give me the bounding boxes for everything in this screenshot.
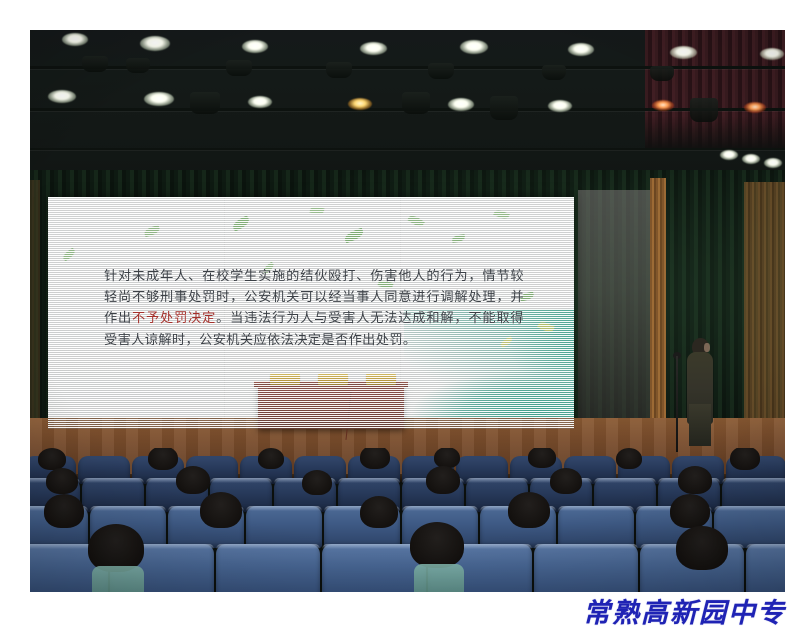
audience-head [360,448,390,469]
light-fixture [326,62,352,78]
stage-lamp [144,92,174,106]
lighting-truss-bar-3 [30,148,785,150]
auditorium-photograph: 针对未成年人、在校学生实施的结伙殴打、伤害他人的行为，情节较轻尚不够刑事处罚时，… [30,30,785,592]
wood-wall-strip [30,180,40,430]
seat-rim [246,506,322,511]
seat-rim [90,506,166,511]
audience-head [616,448,642,469]
stage-lamp-red [652,100,674,111]
light-fixture [690,98,718,122]
audience-head [670,494,710,528]
stage-lamp [670,46,697,59]
seat-rim [534,544,638,549]
led-display-wall: 针对未成年人、在校学生实施的结伙殴打、伤害他人的行为，情节较轻尚不够刑事处罚时，… [48,197,574,429]
stage-lamp [448,98,474,111]
stage-lamp [140,36,170,51]
speaker-face [704,343,710,352]
seat-rim [722,478,785,483]
seat-rim [746,544,785,549]
seat [558,506,634,548]
light-fixture [650,66,674,81]
seat [746,544,785,592]
seat-rim [402,506,478,511]
stage-lamp [248,96,272,108]
speaker-legs [689,404,711,446]
seat-rim [216,544,320,549]
seat-rim [558,506,634,511]
stage-lamp [242,40,268,53]
stage-lamp [720,150,738,160]
maroon-valance-curtain [645,30,785,150]
stage-lamp-red [744,102,766,113]
grey-wall-panel [578,190,650,426]
audience-head [44,494,84,528]
light-fixture [402,92,430,114]
seat-rim [466,478,528,483]
audience-head [678,466,712,494]
light-fixture [82,56,108,72]
audience-head [148,448,178,470]
audience-head [302,470,332,495]
audience-seating-area [30,448,785,592]
audience-head [360,496,398,528]
seat-rim [594,478,656,483]
watermark-text: 常熟高新园中专 [583,591,786,630]
stage-lamp [764,158,782,168]
seat-rim [338,478,400,483]
audience-head [38,448,66,470]
seat-rim [714,506,785,511]
light-fixture [542,65,566,80]
audience-head [46,468,78,494]
audience-torso [414,564,464,592]
wood-wall-strip [650,178,666,440]
audience-head [426,466,460,494]
light-fixture [226,60,252,76]
microphone-stand [676,356,678,452]
light-fixture [126,58,150,73]
screenshot-page: 针对未成年人、在校学生实施的结伙殴打、伤害他人的行为，情节较轻尚不够刑事处罚时，… [0,0,812,632]
stage-lamp [760,48,784,60]
audience-head [508,492,550,528]
stage-lamp [742,154,760,164]
stage-lamp [548,100,572,112]
seat [246,506,322,548]
audience-head [528,448,556,468]
stage-lamp [568,43,594,56]
stage-lamp [48,90,76,103]
stage-lamp [62,33,88,46]
stage-lamp [460,40,488,54]
audience-head [550,468,582,494]
seat [534,544,638,592]
audience-head [88,524,144,572]
audience-head [176,466,210,494]
audience-head [676,526,728,570]
seat [216,544,320,592]
audience-head [410,522,464,568]
seat-rim [82,478,144,483]
slide-body-text: 针对未成年人、在校学生实施的结伙殴打、伤害他人的行为，情节较轻尚不够刑事处罚时，… [104,265,524,350]
wood-wall-strip [744,182,785,440]
audience-torso [92,566,144,592]
audience-head [200,492,242,528]
light-fixture [190,92,220,114]
stage-lamp [360,42,387,55]
slide-text-highlight: 不予处罚决定 [132,310,216,325]
audience-head [258,448,284,469]
light-fixture [490,96,518,120]
audience-head [434,448,460,468]
seat-rim [210,478,272,483]
stage-lamp-amber [348,98,372,110]
light-fixture [428,63,454,79]
audience-head [730,448,760,470]
